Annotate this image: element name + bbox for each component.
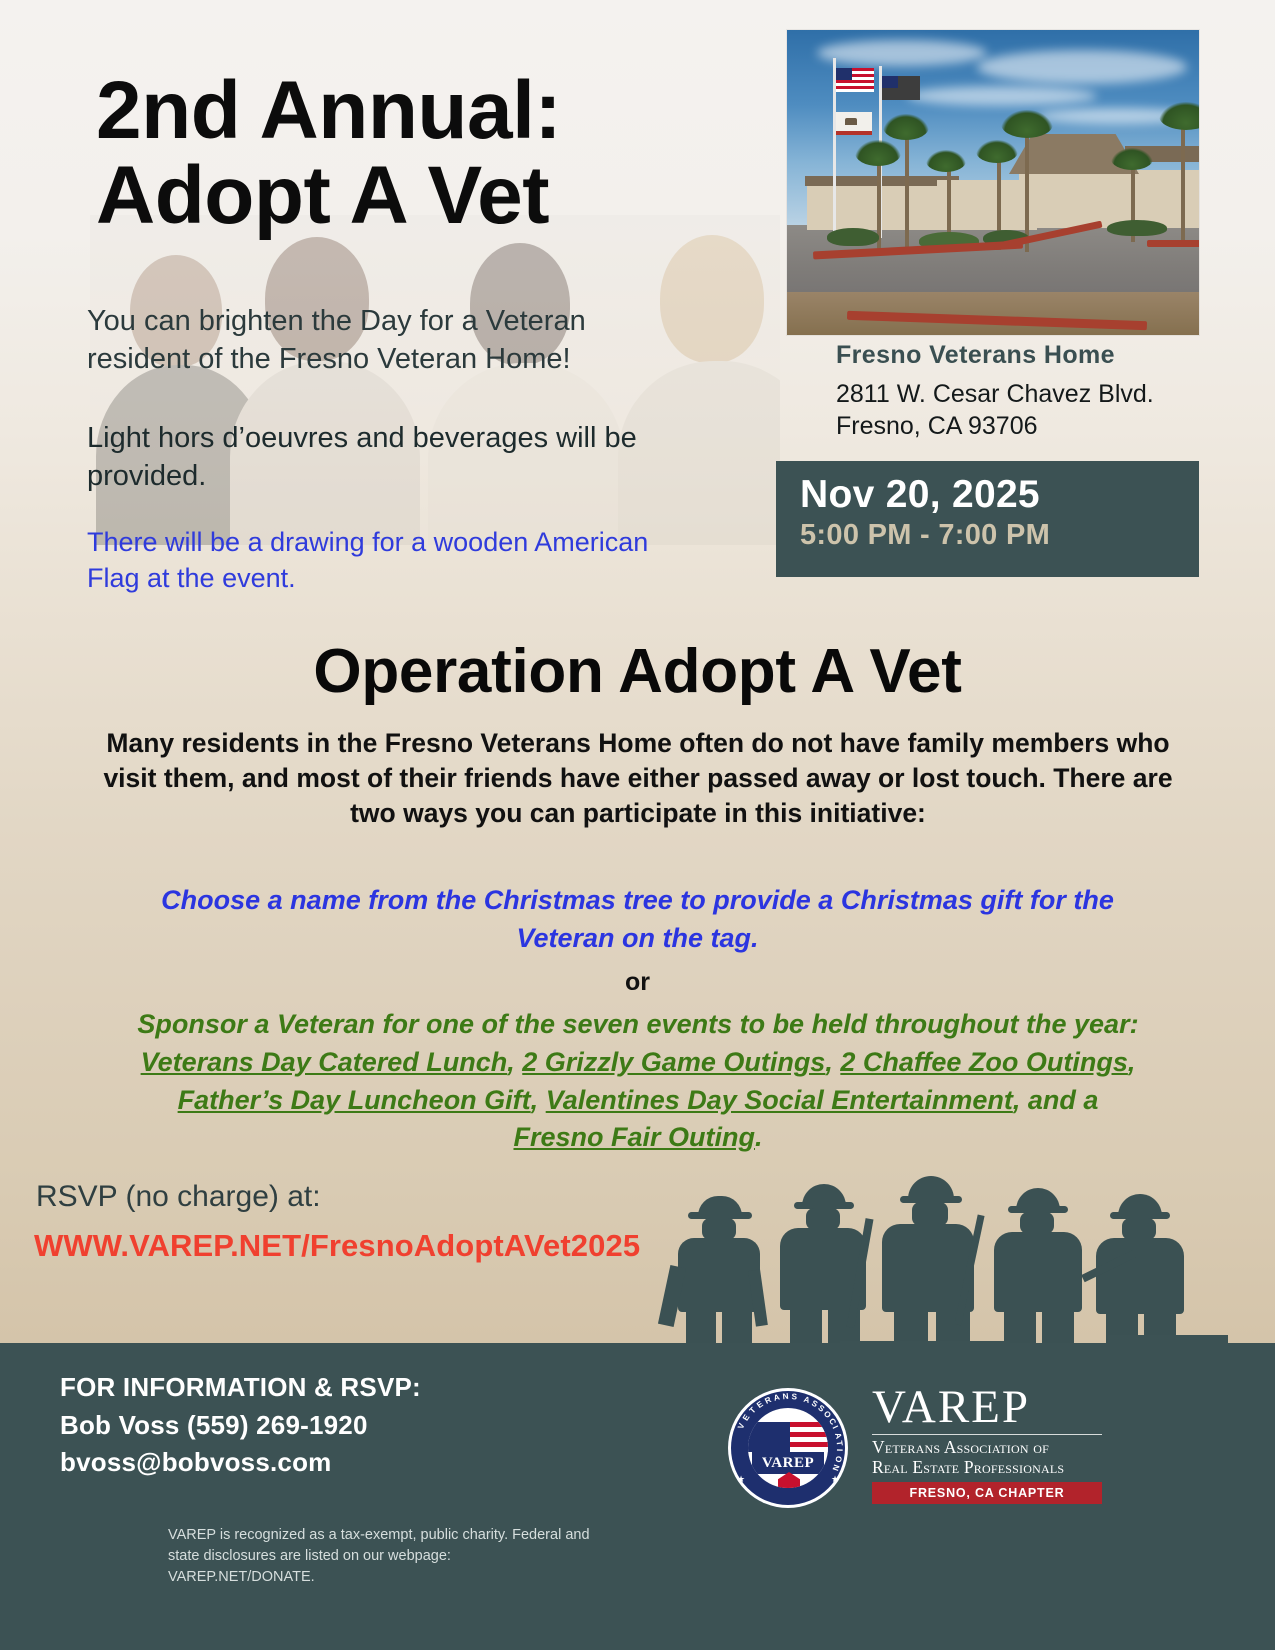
wordmark-sub-line-2: Real Estate Professionals xyxy=(872,1458,1102,1478)
sponsor-intro: Sponsor a Veteran for one of the seven e… xyxy=(137,1009,1138,1039)
intro-paragraph-3: There will be a drawing for a wooden Ame… xyxy=(87,525,687,596)
people-background-photo xyxy=(90,215,780,545)
options-separator: or xyxy=(0,968,1275,997)
event-item-5: Valentines Day Social Entertainment xyxy=(546,1085,1013,1115)
event-item-6: Fresno Fair Outing xyxy=(513,1122,755,1152)
wordmark-main: VAREP xyxy=(872,1384,1102,1431)
rsvp-url-link[interactable]: WWW.VAREP.NET/FresnoAdoptAVet2025 xyxy=(34,1228,640,1264)
headline-line-2: Adopt A Vet xyxy=(96,150,549,241)
fresno-veterans-home-photo xyxy=(787,30,1199,335)
footer-contact-block: FOR INFORMATION & RSVP: Bob Voss (559) 2… xyxy=(60,1369,421,1482)
event-item-1: Veterans Day Catered Lunch xyxy=(141,1047,508,1077)
option-sponsor-events: Sponsor a Veteran for one of the seven e… xyxy=(72,1006,1204,1157)
option-christmas-tree: Choose a name from the Christmas tree to… xyxy=(150,882,1125,958)
rsvp-label: RSVP (no charge) at: xyxy=(36,1180,321,1214)
footer-disclaimer: VAREP is recognized as a tax-exempt, pub… xyxy=(168,1525,598,1588)
flyer-page: 2nd Annual: Adopt A Vet You can brighten… xyxy=(0,0,1275,1650)
seal-word: VAREP xyxy=(762,1455,814,1472)
intro-paragraph-2: Light hors d’oeuvres and beverages will … xyxy=(87,420,697,495)
events-conjunction: and a xyxy=(1028,1085,1099,1115)
event-date: Nov 20, 2025 xyxy=(800,473,1199,517)
event-item-2: 2 Grizzly Game Outings xyxy=(522,1047,825,1077)
wordmark-sub-line-1: Veterans Association of xyxy=(872,1438,1102,1458)
intro-paragraph-1: You can brighten the Day for a Veteran r… xyxy=(87,303,687,378)
venue-address-line-1: 2811 W. Cesar Chavez Blvd. xyxy=(836,380,1154,408)
footer-contact-name-phone: Bob Voss (559) 269-1920 xyxy=(60,1407,421,1445)
venue-address-line-2: Fresno, CA 93706 xyxy=(836,412,1038,440)
chapter-badge: FRESNO, CA CHAPTER xyxy=(872,1482,1102,1504)
seal-inner-emblem: VAREP xyxy=(748,1408,828,1488)
event-time: 5:00 PM - 7:00 PM xyxy=(800,519,1199,552)
event-item-4: Father’s Day Luncheon Gift xyxy=(178,1085,531,1115)
footer-contact-email[interactable]: bvoss@bobvoss.com xyxy=(60,1444,421,1482)
house-icon xyxy=(778,1472,800,1488)
operation-body: Many residents in the Fresno Veterans Ho… xyxy=(78,726,1198,831)
event-date-time-band: Nov 20, 2025 5:00 PM - 7:00 PM xyxy=(776,461,1199,577)
wordmark-divider xyxy=(872,1434,1102,1435)
venue-name: Fresno Veterans Home xyxy=(836,341,1115,370)
operation-title: Operation Adopt A Vet xyxy=(0,636,1275,707)
venue-address: 2811 W. Cesar Chavez Blvd. Fresno, CA 93… xyxy=(836,378,1154,442)
page-title: 2nd Annual: Adopt A Vet xyxy=(96,68,561,239)
footer-info-heading: FOR INFORMATION & RSVP: xyxy=(60,1369,421,1407)
varep-wordmark: VAREP Veterans Association of Real Estat… xyxy=(872,1384,1102,1504)
event-item-3: 2 Chaffee Zoo Outings xyxy=(840,1047,1128,1077)
varep-seal-logo: V E T E R A N S A S S O C I A T I O N ★ … xyxy=(728,1388,848,1508)
headline-line-1: 2nd Annual: xyxy=(96,65,561,156)
